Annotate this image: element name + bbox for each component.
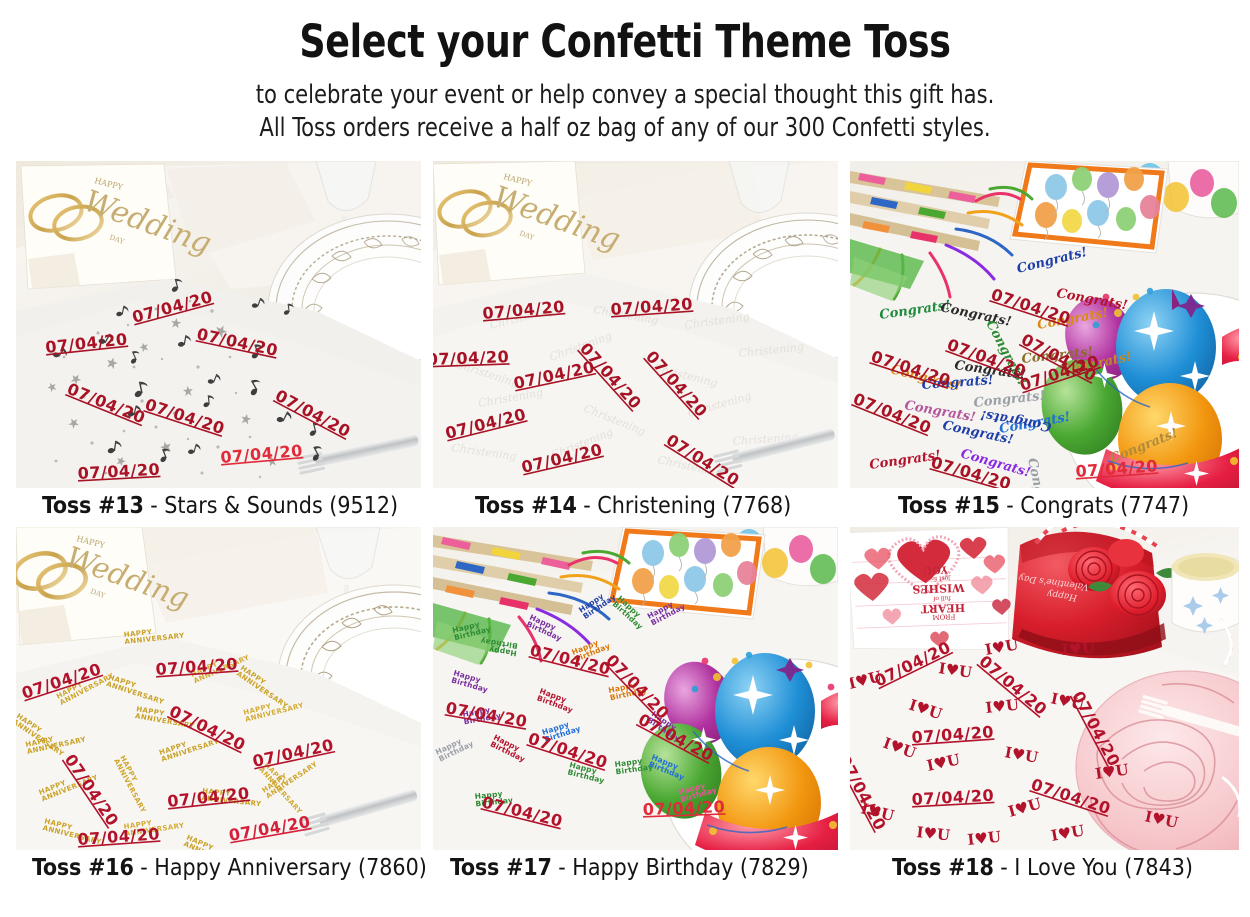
svg-text:I♥U: I♥U [967, 828, 1002, 849]
svg-text:WISHES: WISHES [912, 581, 966, 596]
product-image-toss-17[interactable]: HappyBirthday HappyBirthday HappyBirthda… [433, 527, 838, 850]
product-image-toss-18[interactable]: FROM HEART full of WISHES just for YOU [850, 527, 1239, 850]
svg-text:I♥U: I♥U [916, 823, 951, 844]
product-card-toss-18[interactable]: FROM HEART full of WISHES just for YOU [850, 527, 1239, 889]
i-love-you-valentine-photo: FROM HEART full of WISHES just for YOU [850, 527, 1239, 850]
svg-text:YOU: YOU [923, 563, 949, 575]
product-id-label: Toss #18 [892, 855, 994, 881]
caption-dash: - [150, 493, 157, 519]
product-card-toss-17[interactable]: HappyBirthday HappyBirthday HappyBirthda… [433, 527, 838, 889]
page-subtitle: to celebrate your event or help convey a… [0, 79, 1250, 145]
product-name-label: Happy Birthday (7829) [572, 855, 808, 881]
product-name-label: Happy Anniversary (7860) [154, 855, 427, 881]
page-title: Select your Confetti Theme Toss [63, 18, 1188, 65]
product-id-label: Toss #17 [450, 855, 552, 881]
caption-dash: - [1006, 493, 1013, 519]
product-caption-toss-14: Toss #14 - Christening (7768) [433, 488, 838, 527]
caption-dash: - [583, 493, 590, 519]
svg-text:I♥U: I♥U [1061, 639, 1096, 659]
subtitle-line-2: All Toss orders receive a half oz bag of… [50, 112, 1200, 145]
caption-dash: - [1000, 855, 1007, 881]
product-card-toss-15[interactable]: Congrats! Congrats! Congrats! Congrats! … [850, 161, 1239, 527]
product-name-label: I Love You (7843) [1014, 855, 1193, 881]
product-id-label: Toss #16 [32, 855, 134, 881]
product-name-label: Congrats (7747) [1020, 493, 1189, 519]
subtitle-line-1: to celebrate your event or help convey a… [50, 79, 1200, 112]
product-caption-toss-17: Toss #17 - Happy Birthday (7829) [433, 850, 838, 889]
svg-text:HEART: HEART [920, 601, 966, 616]
congrats-party-photo: Congrats! Congrats! Congrats! Congrats! … [850, 161, 1239, 488]
svg-text:07/04/20: 07/04/20 [433, 347, 510, 369]
product-caption-toss-15: Toss #15 - Congrats (7747) [850, 488, 1239, 527]
caption-dash: - [140, 855, 147, 881]
product-id-label: Toss #13 [42, 493, 144, 519]
product-image-toss-16[interactable]: HAPPY Wedding DAY [16, 527, 421, 850]
product-image-toss-13[interactable]: HAPPY Wedding DAY [16, 161, 421, 488]
product-image-toss-15[interactable]: Congrats! Congrats! Congrats! Congrats! … [850, 161, 1239, 488]
page-header: Select your Confetti Theme Toss to celeb… [0, 0, 1250, 146]
product-name-label: Stars & Sounds (9512) [164, 493, 398, 519]
product-name-label: Christening (7768) [597, 493, 791, 519]
product-image-toss-14[interactable]: HAPPY Wedding DAY [433, 161, 838, 488]
product-card-toss-13[interactable]: HAPPY Wedding DAY [16, 161, 421, 527]
christening-photo: HAPPY Wedding DAY [433, 161, 838, 488]
product-card-toss-16[interactable]: HAPPY Wedding DAY [16, 527, 421, 889]
happy-birthday-party-photo: HappyBirthday HappyBirthday HappyBirthda… [433, 527, 838, 850]
caption-dash: - [558, 855, 565, 881]
svg-text:07/04/20: 07/04/20 [642, 797, 725, 819]
wedding-stars-sounds-photo: HAPPY Wedding DAY [16, 161, 421, 488]
product-caption-toss-13: Toss #13 - Stars & Sounds (9512) [16, 488, 421, 527]
happy-anniversary-photo: HAPPY Wedding DAY [16, 527, 421, 850]
product-grid: HAPPY Wedding DAY [16, 161, 1235, 889]
product-id-label: Toss #14 [475, 493, 577, 519]
balloon-napkins [1010, 161, 1168, 253]
product-caption-toss-18: Toss #18 - I Love You (7843) [850, 850, 1239, 889]
product-caption-toss-16: Toss #16 - Happy Anniversary (7860) [16, 850, 421, 889]
product-id-label: Toss #15 [898, 493, 1000, 519]
rose-gift-bag: Happy Valentine's Day [1012, 527, 1180, 658]
product-card-toss-14[interactable]: HAPPY Wedding DAY [433, 161, 838, 527]
